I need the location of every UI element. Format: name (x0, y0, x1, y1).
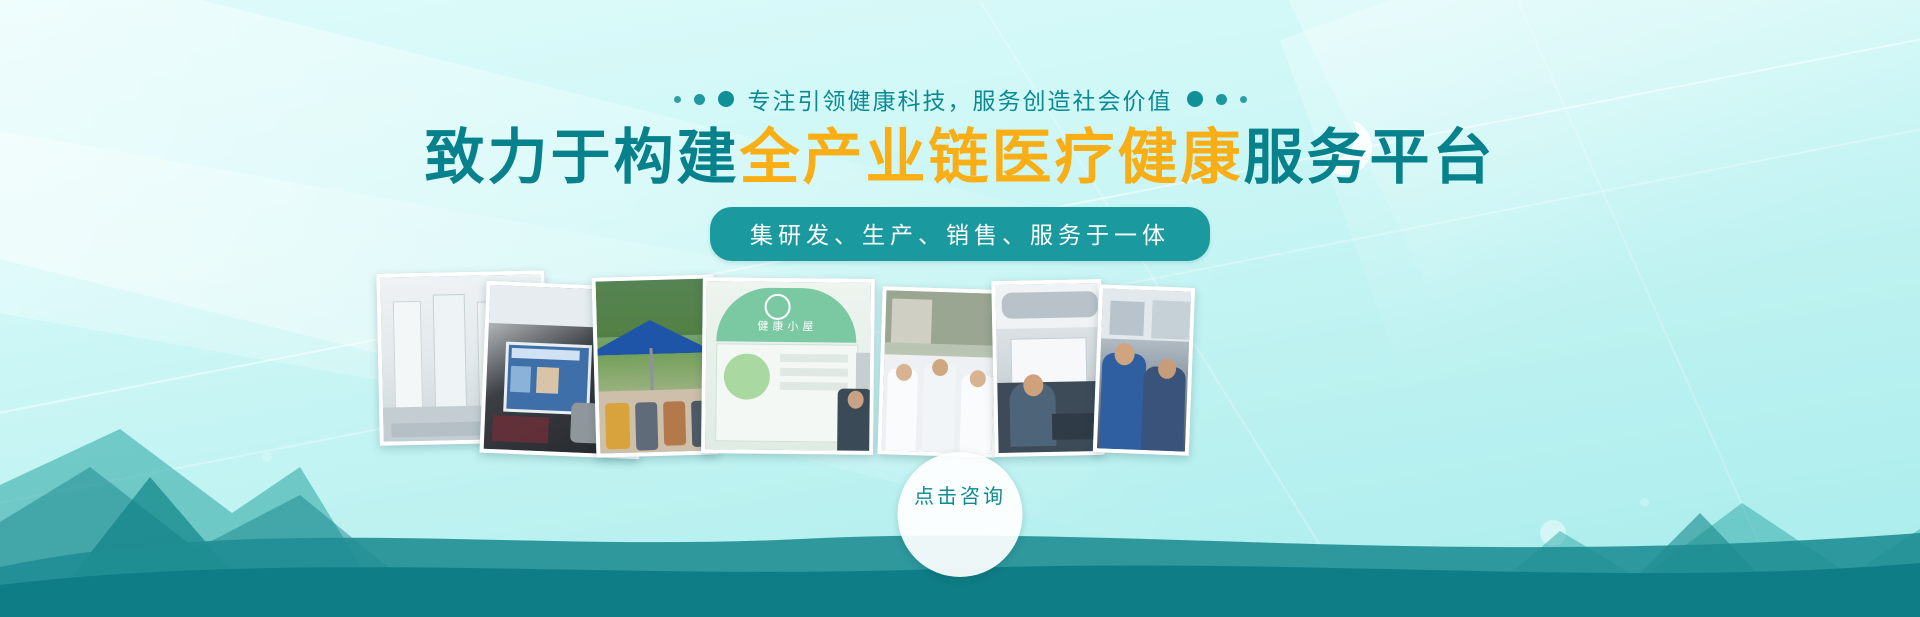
photo-outdoor-health-tent[interactable] (592, 274, 719, 457)
headline-highlight: 全产业链医疗健康 (740, 124, 1244, 191)
eyebrow-tagline: 专注引领健康科技，服务创造社会价值 (748, 82, 1173, 116)
banner-copy: 专注引领健康科技，服务创造社会价值 致力于构建全产业链医疗健康服务平台 集研发、… (0, 0, 1920, 261)
consult-cta-button[interactable]: 点击咨询 (898, 452, 1023, 577)
photo-medical-staff-outdoor[interactable] (877, 286, 1000, 458)
photo-technician-workstation[interactable] (991, 279, 1104, 457)
dot-large-icon (718, 91, 734, 107)
headline-prefix: 致力于构建 (425, 124, 740, 191)
photo-health-hut-booth[interactable]: 健康小屋 (701, 277, 875, 455)
photo-strip: 健康小屋 (0, 272, 1920, 462)
eyebrow-tagline-row: 专注引领健康科技，服务创造社会价值 (0, 82, 1920, 116)
subtitle-pill: 集研发、生产、销售、服务于一体 (710, 207, 1210, 261)
dot-group-right (1187, 91, 1247, 107)
consult-cta-label: 点击咨询 (914, 480, 1006, 509)
headline: 致力于构建全产业链医疗健康服务平台 (0, 126, 1920, 191)
photo-lab-technicians[interactable] (1093, 284, 1195, 456)
dot-small-icon (674, 96, 681, 103)
dot-medium-icon (694, 94, 705, 105)
photo-caption-health-hut: 健康小屋 (728, 317, 846, 334)
promo-banner: 专注引领健康科技，服务创造社会价值 致力于构建全产业链医疗健康服务平台 集研发、… (0, 0, 1920, 617)
dot-group-left (674, 91, 734, 107)
dot-large-icon (1187, 91, 1203, 107)
dot-medium-icon (1216, 94, 1227, 105)
dot-small-icon (1240, 96, 1247, 103)
headline-suffix: 服务平台 (1244, 124, 1496, 191)
